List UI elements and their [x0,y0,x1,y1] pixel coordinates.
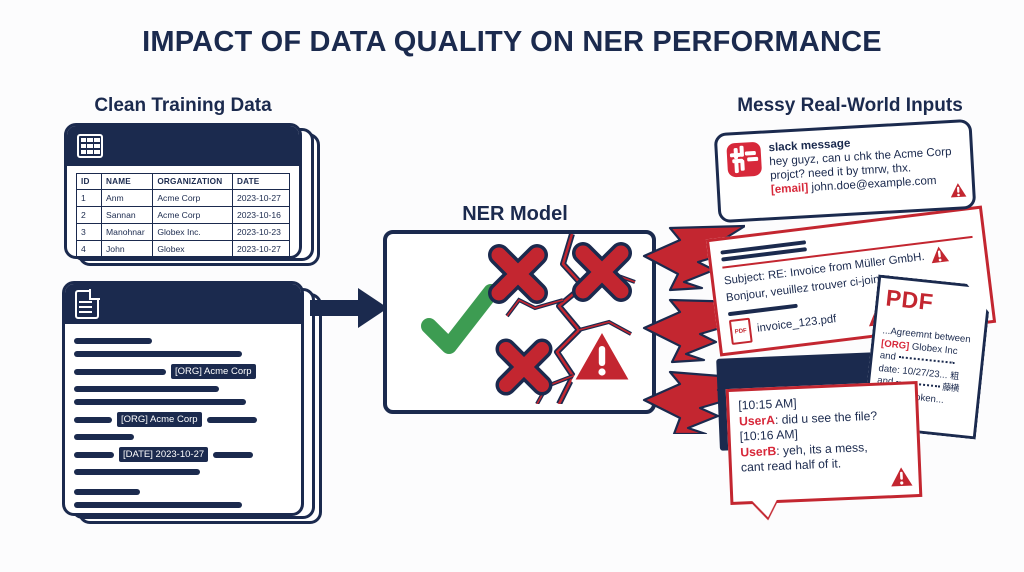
garbled-glyphs: 藤横 [942,383,959,395]
x-mark-icon [506,349,542,385]
cell-date: 2023-10-27 [232,241,289,258]
table-card-body: ID NAME ORGANIZATION DATE 1 Anm Acme Cor… [67,166,299,259]
ner-model-box[interactable] [383,230,656,414]
text-line [74,351,242,357]
cell-id: 2 [77,207,102,224]
table-header-row: ID NAME ORGANIZATION DATE [77,174,290,190]
text-line [74,399,246,405]
cell-name: John [102,241,153,258]
text-line [74,386,219,392]
text-line [74,515,232,516]
entity-tag-date: [DATE] 2023-10-27 [119,447,208,462]
entity-tag-email: [email] [771,181,809,196]
warning-triangle-icon [927,243,952,270]
x-mark-icon [499,255,537,293]
cell-date: 2023-10-23 [232,224,289,241]
slack-message-text: slack message hey guyz, can u chk the Ac… [768,131,953,197]
document-card-body: [ORG] Acme Corp [ORG] Acme Corp [DATE] 2… [65,324,301,516]
cell-name: Manohnar [102,224,153,241]
cell-date: 2023-10-27 [232,190,289,207]
chat-text-1: : did u see the file? [775,408,878,426]
chat-bubble-tail [751,499,778,518]
slack-icon [726,142,762,178]
table-row: 1 Anm Acme Corp 2023-10-27 [77,190,290,207]
entity-tag-org: [ORG] Acme Corp [117,412,202,427]
redacted-dots [898,356,954,364]
warning-triangle-icon [948,180,969,204]
column-header-id: ID [77,174,102,190]
warning-triangle-icon [573,330,631,381]
page-title: IMPACT OF DATA QUALITY ON NER PERFORMANC… [0,26,1024,59]
clean-data-table: ID NAME ORGANIZATION DATE 1 Anm Acme Cor… [76,173,290,258]
text-line [74,489,140,495]
text-line [74,434,134,440]
annotated-line: [ORG] Acme Corp [74,412,292,427]
clean-table-card[interactable]: ID NAME ORGANIZATION DATE 1 Anm Acme Cor… [64,123,302,259]
chat-text-2: : yeh, its a mess, [776,440,868,458]
chat-username-b: UserB [740,444,776,459]
check-mark-icon [429,292,491,346]
messy-inputs-heading: Messy Real-World Inputs [700,95,1000,117]
cell-org: Acme Corp [153,207,233,224]
annotated-line: [ORG] Acme Corp [74,364,292,379]
table-row: 3 Manohnar Globex Inc. 2023-10-23 [77,224,290,241]
cell-id: 4 [77,241,102,258]
slack-message-card[interactable]: slack message hey guyz, can u chk the Ac… [714,119,977,223]
cell-org: Globex [153,241,233,258]
clean-data-arrow [310,288,388,328]
x-mark-icon [583,253,621,291]
chat-log-card[interactable]: [10:15 AM] UserA: did u see the file? [1… [726,381,923,505]
cell-id: 3 [77,224,102,241]
document-icon [75,290,99,319]
entity-tag-org: [ORG] [881,338,910,352]
annotated-line: [DATE] 2023-10-27 [74,447,292,462]
text-line [74,502,242,508]
chat-username-a: UserA [739,413,775,428]
pdf-file-icon: PDF [729,318,753,345]
entity-tag-org: [ORG] Acme Corp [171,364,256,379]
text-line [74,469,200,475]
column-header-name: NAME [102,174,153,190]
model-box-graphics [387,234,646,404]
table-row: 2 Sannan Acme Corp 2023-10-16 [77,207,290,224]
clean-data-heading: Clean Training Data [58,95,308,117]
text-line [74,338,152,344]
cell-org: Acme Corp [153,190,233,207]
ner-model-heading: NER Model [390,203,640,226]
cell-date: 2023-10-16 [232,207,289,224]
table-row: 4 John Globex 2023-10-27 [77,241,290,258]
card-header-bar [67,126,299,166]
cell-id: 1 [77,190,102,207]
column-header-organization: ORGANIZATION [153,174,233,190]
warning-triangle-icon [888,464,915,493]
pdf-and-text: and [879,350,896,363]
cell-org: Globex Inc. [153,224,233,241]
card-header-bar [65,284,301,324]
cell-name: Anm [102,190,153,207]
column-header-date: DATE [232,174,289,190]
pdf-label: PDF [885,284,981,321]
garbled-glyphs: 粗 [950,371,959,382]
table-grid-icon [77,134,103,158]
clean-document-card[interactable]: [ORG] Acme Corp [ORG] Acme Corp [DATE] 2… [62,281,304,516]
email-attachment-name: invoice_123.pdf [756,312,837,337]
cell-name: Sannan [102,207,153,224]
